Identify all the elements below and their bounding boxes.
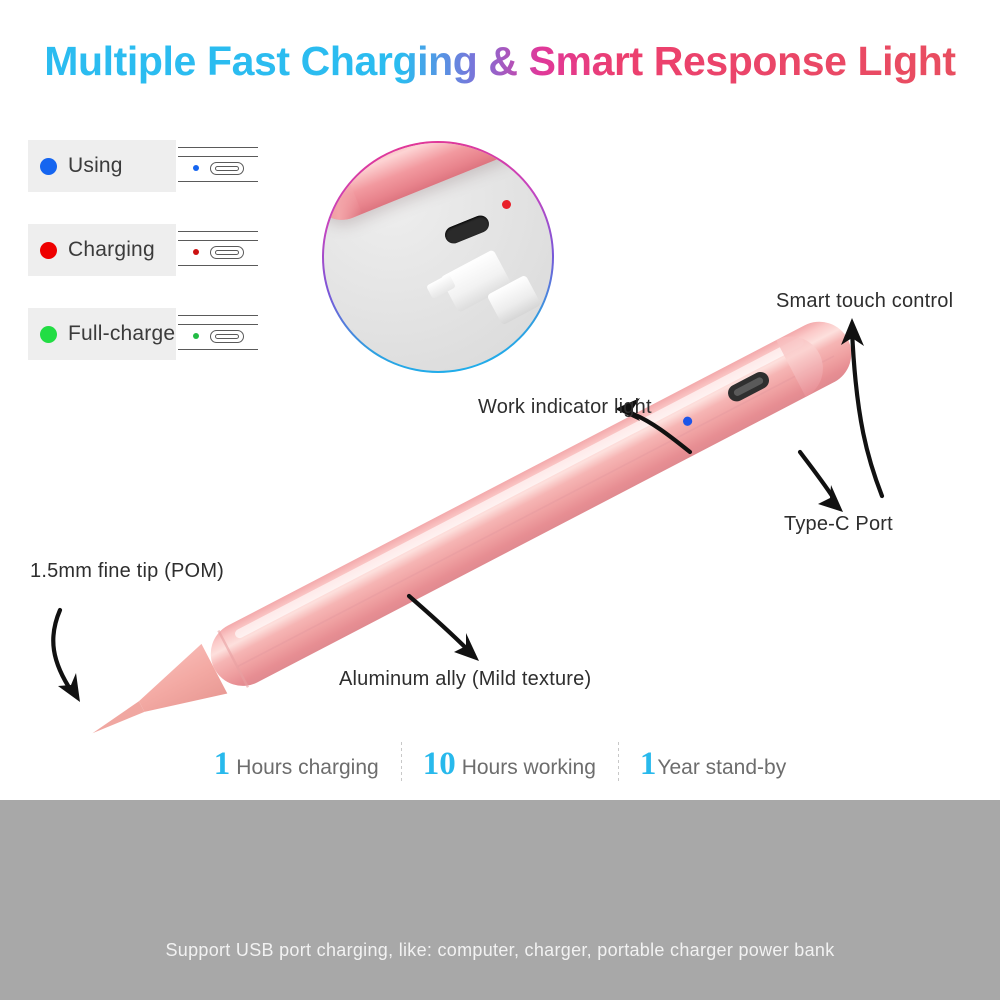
callout-smart-touch-control: Smart touch control [776,290,953,313]
legend-item-label: Using [68,154,123,178]
spec-label: Year stand-by [657,756,786,780]
product-infographic: Multiple Fast Charging & Smart Response … [0,0,1000,1000]
spec-label: Hours charging [236,756,378,780]
spec-standby-time: 1 Year stand-by [618,748,808,781]
callout-fine-tip: 1.5mm fine tip (POM) [30,560,224,583]
pen-outline-line [178,181,258,182]
spec-working-time: 10 Hours working [401,748,618,781]
usb-c-port-icon [210,162,244,175]
charging-led-closeup-icon [502,200,511,209]
spec-charging-time: 1 Hours charging [192,748,401,781]
spec-value: 10 [423,748,456,781]
compatible-devices-caption: Support USB port charging, like: compute… [0,940,1000,961]
status-dot-icon [40,158,57,175]
legend-item-using: Using [28,140,258,192]
charging-closeup-inset [322,141,554,373]
status-dot-icon [40,326,57,343]
indicator-led-icon [193,333,199,339]
pen-outline-line [178,231,258,232]
pen-outline-line [178,349,258,350]
mini-pen-diagram [178,140,258,192]
spec-value: 1 [214,748,231,781]
legend-item-label: Charging [68,238,155,262]
indicator-led-icon [193,165,199,171]
legend-item-charging: Charging [28,224,258,276]
status-light-legend: Using Charging [28,140,258,392]
legend-item-label: Full-charge [68,322,175,346]
pen-outline-line [178,156,258,157]
callout-type-c-port: Type-C Port [784,513,893,536]
pen-outline-line [178,324,258,325]
legend-chip: Full-charge [28,308,176,360]
usb-c-port-icon [210,330,244,343]
mini-pen-diagram [178,224,258,276]
stylus-end-closeup [324,143,529,229]
legend-item-full-charge: Full-charge [28,308,258,360]
pen-outline-line [178,315,258,316]
inset-photo [324,143,552,371]
compatible-devices-bar [0,800,1000,1000]
pen-outline-line [178,147,258,148]
callout-aluminum-alloy: Aluminum ally (Mild texture) [339,668,591,691]
page-title: Multiple Fast Charging & Smart Response … [0,38,1000,85]
spec-label: Hours working [462,756,596,780]
usb-c-port-closeup-icon [442,213,491,246]
spec-row: 1 Hours charging 10 Hours working 1 Year… [0,748,1000,781]
indicator-led-icon [193,249,199,255]
spec-value: 1 [640,748,657,781]
mini-pen-diagram [178,308,258,360]
callout-work-indicator-light: Work indicator light [478,396,652,419]
usb-c-port-icon [210,246,244,259]
pen-outline-line [178,265,258,266]
pen-outline-line [178,240,258,241]
legend-chip: Charging [28,224,176,276]
legend-chip: Using [28,140,176,192]
status-dot-icon [40,242,57,259]
